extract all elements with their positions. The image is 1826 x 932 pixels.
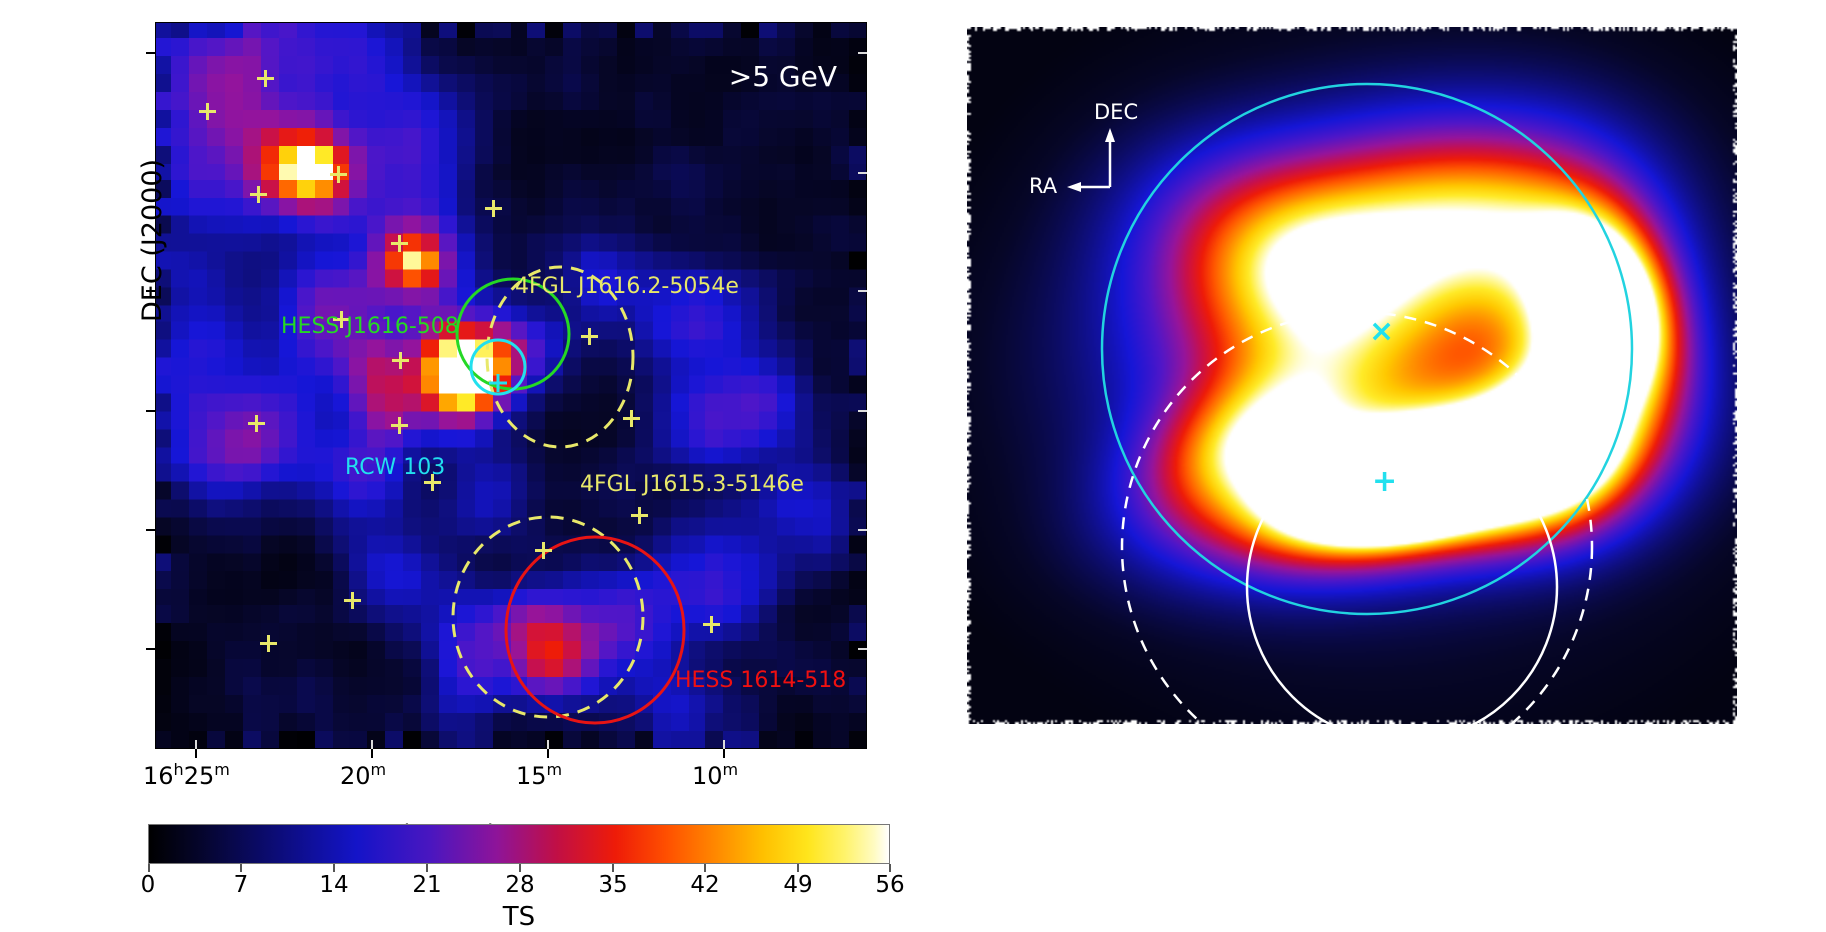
label-hess-1614: HESS 1614-518 bbox=[675, 668, 846, 693]
catalog-source-marker bbox=[391, 235, 408, 252]
dec-arrowhead-icon bbox=[1105, 128, 1115, 142]
catalog-source-marker bbox=[391, 417, 408, 434]
catalog-source-marker bbox=[260, 635, 277, 652]
colorbar-tick-label: 0 bbox=[141, 872, 156, 898]
x-tick-label: 16h25m bbox=[143, 760, 230, 790]
y-tick bbox=[146, 52, 155, 54]
y-tick-label: -49°30' bbox=[0, 39, 1, 67]
colorbar-tick-label: 28 bbox=[505, 872, 534, 898]
y-tick bbox=[146, 529, 155, 531]
catalog-source-marker bbox=[703, 616, 720, 633]
y-tick-inner bbox=[858, 410, 867, 412]
energy-band-label: >5 GeV bbox=[729, 60, 837, 93]
colorbar-tick-label: 7 bbox=[234, 872, 249, 898]
dec-axis-label: DEC bbox=[1094, 100, 1138, 124]
y-tick-inner bbox=[858, 172, 867, 174]
colorbar-tick-label: 56 bbox=[875, 872, 904, 898]
colorbar-tick-label: 14 bbox=[319, 872, 348, 898]
colorbar-tick bbox=[704, 864, 706, 872]
catalog-source-marker bbox=[248, 415, 265, 432]
catalog-source-marker bbox=[623, 410, 640, 427]
colorbar-group: 0 7 14 21 28 35 42 49 56 TS bbox=[148, 824, 890, 864]
label-hess-j1616: HESS J1616-508 bbox=[281, 314, 459, 339]
y-tick-inner bbox=[858, 529, 867, 531]
x-tick-inner bbox=[723, 740, 725, 749]
catalog-source-marker bbox=[535, 542, 552, 559]
label-4fgl-j1616: 4FGL J1616.2-5054e bbox=[515, 274, 739, 299]
region-hess-1614 bbox=[506, 537, 684, 723]
colorbar-tick bbox=[889, 864, 891, 872]
fermi-ts-map-panel: 4FGL J1616.2-5054e HESS J1616-508 RCW 10… bbox=[155, 22, 867, 749]
colorbar-tick bbox=[240, 864, 242, 872]
colorbar-title: TS bbox=[503, 902, 535, 932]
x-tick bbox=[195, 749, 197, 758]
catalog-source-marker bbox=[581, 328, 598, 345]
hess-significance-map-panel: × + DEC RA bbox=[967, 27, 1737, 724]
y-tick-label: -51°00' bbox=[0, 397, 1, 425]
colorbar-tick bbox=[519, 864, 521, 872]
x-tick-label: 10m bbox=[692, 760, 738, 790]
colorbar-tick bbox=[148, 864, 150, 872]
ra-axis-label: RA bbox=[1029, 174, 1057, 198]
x-tick-inner bbox=[547, 740, 549, 749]
catalog-source-marker bbox=[257, 70, 274, 87]
cyan-x-marker: × bbox=[1369, 317, 1394, 347]
orientation-arrows bbox=[1067, 112, 1187, 212]
colorbar-tick-label: 49 bbox=[783, 872, 812, 898]
label-4fgl-j1615: 4FGL J1615.3-5146e bbox=[580, 472, 804, 497]
catalog-source-marker bbox=[344, 592, 361, 609]
colorbar-tick-label: 21 bbox=[412, 872, 441, 898]
y-axis-title: DEC (J2000) bbox=[137, 159, 168, 322]
colorbar-tick-label: 35 bbox=[598, 872, 627, 898]
y-tick-inner bbox=[858, 290, 867, 292]
x-tick-inner bbox=[371, 740, 373, 749]
x-tick-inner bbox=[195, 740, 197, 749]
region-white-solid bbox=[1247, 432, 1557, 742]
x-tick-label: 15m bbox=[516, 760, 562, 790]
colorbar-tick bbox=[333, 864, 335, 872]
y-tick-inner bbox=[858, 648, 867, 650]
catalog-source-marker bbox=[250, 186, 267, 203]
y-tick-label: -52°00' bbox=[0, 635, 1, 663]
y-tick-label: -50°00' bbox=[0, 159, 1, 187]
x-tick-label: 20m bbox=[340, 760, 386, 790]
catalog-source-marker bbox=[330, 166, 347, 183]
colorbar-tick-label: 42 bbox=[690, 872, 719, 898]
y-tick bbox=[146, 410, 155, 412]
label-rcw-103: RCW 103 bbox=[345, 455, 445, 480]
catalog-source-marker bbox=[631, 507, 648, 524]
cyan-plus-marker: + bbox=[1372, 467, 1397, 497]
colorbar-tick bbox=[612, 864, 614, 872]
catalog-source-marker bbox=[199, 103, 216, 120]
colorbar bbox=[148, 824, 890, 864]
colorbar-tick bbox=[426, 864, 428, 872]
catalog-source-marker bbox=[392, 352, 409, 369]
y-tick-inner bbox=[858, 52, 867, 54]
y-tick-label: 30' bbox=[0, 277, 1, 305]
x-tick bbox=[547, 749, 549, 758]
y-tick bbox=[146, 648, 155, 650]
x-tick bbox=[723, 749, 725, 758]
y-tick-label: 30' bbox=[0, 516, 1, 544]
colorbar-tick bbox=[797, 864, 799, 872]
catalog-source-marker bbox=[485, 200, 502, 217]
x-tick bbox=[371, 749, 373, 758]
ra-arrowhead-icon bbox=[1067, 182, 1081, 192]
